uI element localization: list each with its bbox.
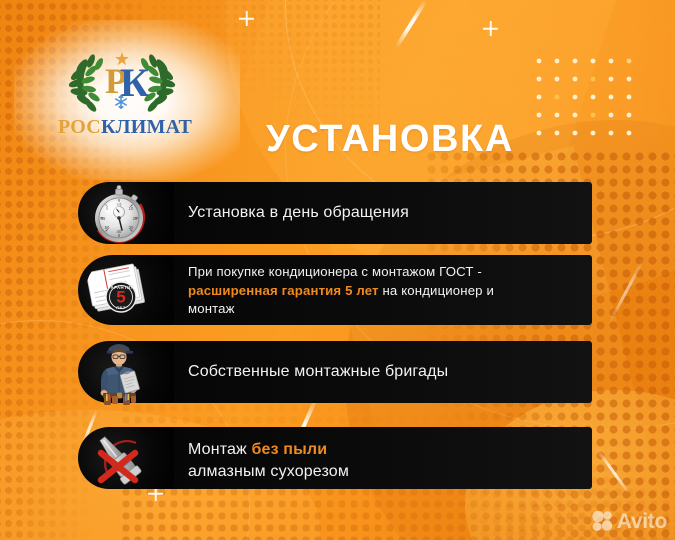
feature-row-dust-free: Монтаж без пыли алмазным сухорезом bbox=[78, 427, 592, 489]
feature-line: расширенная гарантия 5 лет на кондиционе… bbox=[188, 282, 580, 301]
promo-poster: Р К РОСКЛИМАТ УСТАНОВКА bbox=[0, 0, 675, 540]
svg-text:10: 10 bbox=[129, 206, 134, 211]
svg-text:55: 55 bbox=[101, 216, 106, 221]
accent-text: без пыли bbox=[252, 441, 328, 458]
svg-text:30: 30 bbox=[129, 225, 134, 230]
feature-row-same-day-install: 601020 304050 555 Установка в день обращ… bbox=[78, 182, 592, 244]
badge-bottom-label: ЛЕТ bbox=[116, 305, 126, 310]
feature-text: Установка в день обращения bbox=[188, 202, 580, 223]
feature-line: монтаж bbox=[188, 300, 580, 319]
svg-text:К: К bbox=[120, 60, 149, 105]
feature-text: Собственные монтажные бригады bbox=[188, 361, 580, 382]
feature-row-extended-warranty: 5 ГАРАНТИЯ ЛЕТ При покупке кондиционера … bbox=[78, 255, 592, 325]
feature-line: алмазным сухорезом bbox=[188, 461, 580, 483]
logo-word-klimat: КЛИМАТ bbox=[101, 116, 192, 138]
badge-number: 5 bbox=[116, 288, 125, 307]
avito-watermark: Avito bbox=[591, 510, 667, 532]
avito-logo-icon bbox=[591, 510, 613, 532]
company-logo: Р К РОСКЛИМАТ bbox=[58, 44, 186, 137]
feature-line: При покупке кондиционера с монтажом ГОСТ… bbox=[188, 263, 580, 282]
laurel-wreath-rk-monogram-icon: Р К bbox=[58, 44, 186, 116]
badge-top-label: ГАРАНТИЯ bbox=[108, 285, 134, 290]
feature-row-own-crews: Собственные монтажные бригады bbox=[78, 341, 592, 403]
feature-line: Монтаж без пыли bbox=[188, 439, 580, 461]
accent-text: расширенная гарантия 5 лет bbox=[188, 283, 379, 298]
logo-word-ros: РОС bbox=[58, 116, 101, 138]
svg-text:20: 20 bbox=[133, 216, 138, 221]
no-dust-chisel-icon bbox=[86, 427, 152, 493]
feature-line: Собственные монтажные бригады bbox=[188, 361, 580, 382]
feature-text: Монтаж без пыли алмазным сухорезом bbox=[188, 439, 580, 483]
svg-text:50: 50 bbox=[105, 225, 110, 230]
feature-line: Установка в день обращения bbox=[188, 202, 580, 223]
avito-label: Avito bbox=[617, 511, 667, 532]
logo-wordmark: РОСКЛИМАТ bbox=[58, 117, 186, 137]
stopwatch-icon: 601020 304050 555 bbox=[86, 182, 152, 248]
worker-installer-icon bbox=[86, 339, 152, 405]
feature-text: При покупке кондиционера с монтажом ГОСТ… bbox=[188, 263, 580, 319]
page-title: УСТАНОВКА bbox=[266, 118, 514, 161]
guarantee-certificate-icon: 5 ГАРАНТИЯ ЛЕТ bbox=[86, 257, 152, 323]
